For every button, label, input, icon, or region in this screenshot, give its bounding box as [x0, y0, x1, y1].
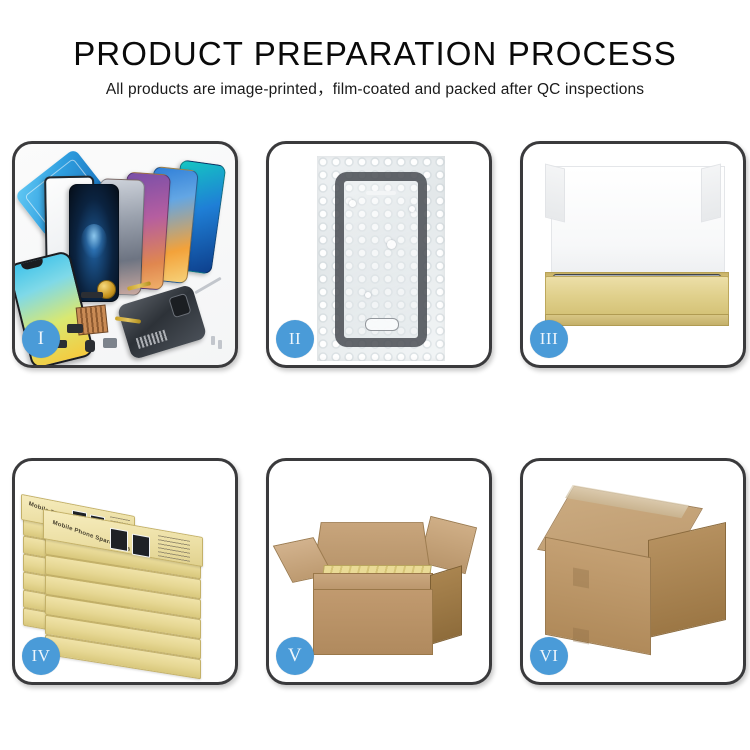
box-print-screen-a — [110, 528, 128, 552]
page-subtitle: All products are image-printed，film-coat… — [0, 80, 750, 100]
carton-seam-patch-bottom — [573, 627, 589, 644]
phone-display-fan — [59, 162, 219, 292]
page-header: PRODUCT PREPARATION PROCESS All products… — [0, 34, 750, 100]
step-badge-6: VI — [530, 637, 568, 675]
sealed-carton-side-face — [648, 522, 726, 638]
wrapped-screen-outline — [335, 172, 427, 347]
step-panel-1: I — [12, 141, 238, 368]
page-title: PRODUCT PREPARATION PROCESS — [0, 34, 750, 74]
bubble-speck — [409, 206, 415, 212]
step-badge-3: III — [530, 320, 568, 358]
part-bracket-1 — [103, 338, 117, 348]
box-lid-back — [551, 166, 725, 279]
screw-1 — [211, 336, 215, 345]
bubble-speck — [365, 292, 371, 298]
box-print-screen-b — [132, 534, 150, 558]
sealed-carton-front-face — [545, 537, 651, 656]
screw-2 — [218, 340, 222, 349]
carton-seam-patch-top — [573, 567, 589, 588]
carton-right-face — [430, 565, 462, 645]
step-badge-1: I — [22, 320, 60, 358]
home-button-icon — [365, 318, 399, 331]
product-preparation-page: PRODUCT PREPARATION PROCESS All products… — [0, 0, 750, 750]
step-panel-2: II — [266, 141, 492, 368]
part-connector-1 — [67, 324, 83, 333]
step-panel-3: III — [520, 141, 746, 368]
step-panel-4: Mobile Phone Spare Parts Mobile Phone Sp… — [12, 458, 238, 685]
step-panel-6: VI — [520, 458, 746, 685]
step-badge-5: V — [276, 637, 314, 675]
bubble-speck — [349, 200, 356, 207]
earpiece-slot-icon — [366, 191, 396, 195]
process-steps-grid: I II — [12, 141, 738, 685]
part-bar-1 — [81, 292, 103, 298]
carton-front-face — [313, 589, 433, 655]
step-badge-4: IV — [22, 637, 60, 675]
inner-box-front-flap — [545, 314, 729, 326]
step-panel-5: V — [266, 458, 492, 685]
box-lid-flap-right — [701, 164, 721, 223]
bubble-speck — [387, 240, 396, 249]
step-badge-2: II — [276, 320, 314, 358]
box-lid-flap-left — [545, 164, 565, 223]
part-button-1 — [85, 340, 95, 352]
